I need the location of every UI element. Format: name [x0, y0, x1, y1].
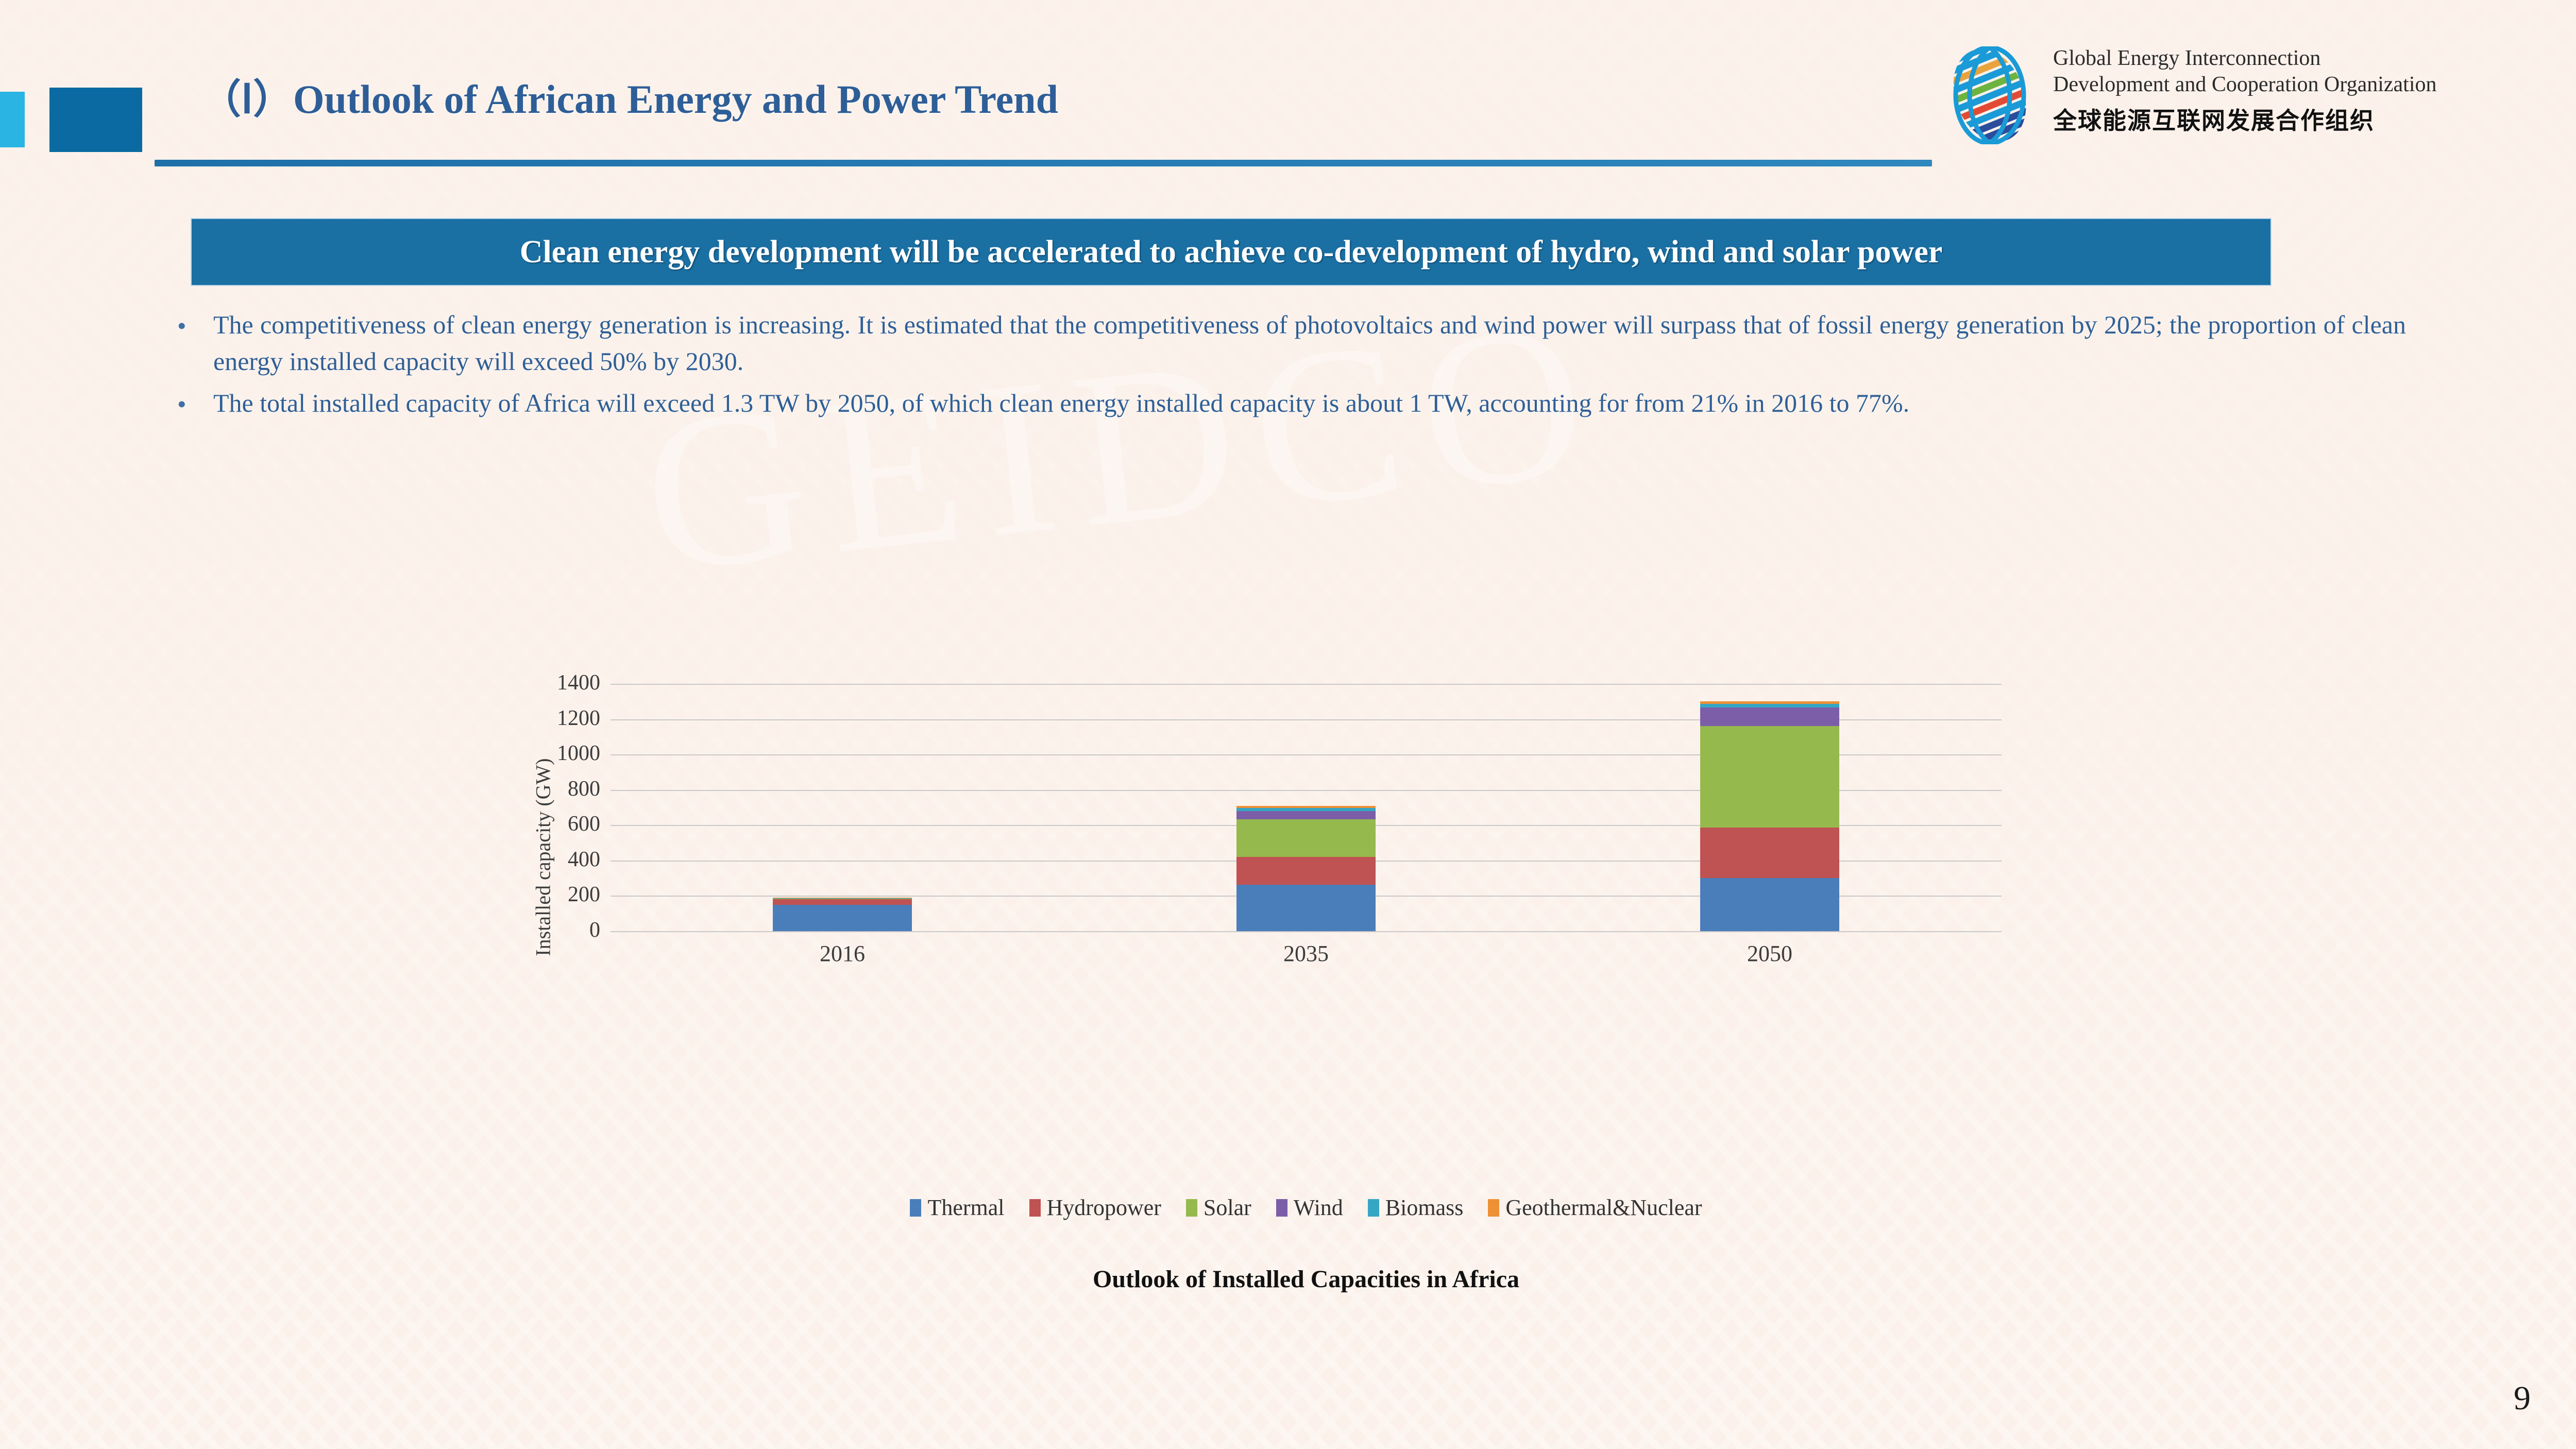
legend-swatch-icon [1186, 1199, 1197, 1217]
legend-label: Geothermal&Nuclear [1505, 1194, 1702, 1221]
chart-x-label-2016: 2016 [765, 940, 920, 967]
chart-bar-segment-hydropower[interactable] [1236, 857, 1376, 885]
logo-english-line1: Global Energy Interconnection [2053, 45, 2437, 72]
page-title: （Ⅰ）Outlook of African Energy and Power T… [201, 67, 1058, 125]
chart-bar-segment-hydropower[interactable] [773, 899, 912, 905]
chart-bar-segment-wind[interactable] [773, 898, 912, 899]
header-divider-rule [155, 160, 1932, 166]
chart-bar-segment-wind[interactable] [1700, 707, 1839, 726]
chart-bar-2035[interactable] [1236, 684, 1376, 931]
chart-y-tick-label: 1000 [446, 741, 600, 766]
chart-y-tick-label: 1200 [446, 706, 600, 731]
list-item: • The total installed capacity of Africa… [170, 385, 2406, 424]
chart-bar-segment-solar[interactable] [1236, 819, 1376, 857]
legend-item-wind[interactable]: Wind [1276, 1194, 1343, 1221]
chart-y-tick-label: 400 [446, 847, 600, 872]
chart-bar-segment-solar[interactable] [773, 899, 912, 899]
chart-bar-segment-biomass[interactable] [1700, 704, 1839, 708]
legend-label: Hydropower [1047, 1194, 1161, 1221]
chart-plot-area: 0200400600800100012001400 [611, 684, 2002, 931]
list-item: • The competitiveness of clean energy ge… [170, 307, 2406, 380]
legend-swatch-icon [1368, 1199, 1379, 1217]
chart-legend: ThermalHydropowerSolarWindBiomassGeother… [611, 1194, 2002, 1221]
chart-x-label-2050: 2050 [1692, 940, 1847, 967]
chart-x-axis-labels: 201620352050 [611, 940, 2002, 976]
chart-bar-segment-thermal[interactable] [1236, 885, 1376, 931]
bullet-text: The total installed capacity of Africa w… [213, 385, 2406, 422]
globe-logo-icon [1942, 46, 2038, 144]
chart-bar-2016[interactable] [773, 684, 912, 931]
legend-label: Thermal [927, 1194, 1004, 1221]
chart-bar-segment-geothermal-nuclear[interactable] [1236, 806, 1376, 808]
chart-y-tick-label: 1400 [446, 670, 600, 695]
legend-swatch-icon [910, 1199, 921, 1217]
organization-logo: Global Energy Interconnection Developmen… [1942, 41, 2550, 149]
chart-bar-segment-solar[interactable] [1700, 726, 1839, 828]
legend-item-thermal[interactable]: Thermal [910, 1194, 1004, 1221]
bullet-marker-icon: • [170, 307, 213, 345]
header-accent-square-small [0, 92, 25, 147]
bullet-text: The competitiveness of clean energy gene… [213, 307, 2406, 380]
chart-bar-segment-geothermal-nuclear[interactable] [773, 898, 912, 898]
bullet-marker-icon: • [170, 385, 213, 424]
legend-label: Wind [1294, 1194, 1343, 1221]
legend-item-hydropower[interactable]: Hydropower [1029, 1194, 1161, 1221]
chart-bar-segment-hydropower[interactable] [1700, 828, 1839, 878]
legend-item-solar[interactable]: Solar [1186, 1194, 1251, 1221]
chart-title: Outlook of Installed Capacities in Afric… [611, 1265, 2002, 1293]
legend-label: Solar [1204, 1194, 1251, 1221]
legend-swatch-icon [1029, 1199, 1041, 1217]
section-banner-text: Clean energy development will be acceler… [520, 234, 1943, 271]
chart-x-label-2035: 2035 [1229, 940, 1383, 967]
header-accent-square-large [49, 88, 142, 152]
legend-label: Biomass [1385, 1194, 1464, 1221]
page-number: 9 [2514, 1379, 2531, 1418]
legend-item-geothermal-nuclear[interactable]: Geothermal&Nuclear [1488, 1194, 1702, 1221]
chart-bar-segment-thermal[interactable] [1700, 878, 1839, 931]
legend-swatch-icon [1276, 1199, 1287, 1217]
chart-bars [611, 684, 2002, 931]
chart-bar-segment-biomass[interactable] [1236, 808, 1376, 811]
logo-english-line2: Development and Cooperation Organization [2053, 72, 2437, 98]
chart-y-tick-label: 200 [446, 882, 600, 907]
logo-chinese-name: 全球能源互联网发展合作组织 [2053, 102, 2437, 136]
slide-header: （Ⅰ）Outlook of African Energy and Power T… [0, 0, 2576, 175]
chart-y-tick-label: 600 [446, 812, 600, 836]
chart-bar-2050[interactable] [1700, 684, 1839, 931]
chart-gridline [611, 931, 2002, 932]
legend-item-biomass[interactable]: Biomass [1368, 1194, 1464, 1221]
legend-swatch-icon [1488, 1199, 1499, 1217]
installed-capacity-chart: Installed capacity (GW) 0200400600800100… [464, 670, 2164, 1340]
chart-bar-segment-thermal[interactable] [773, 905, 912, 931]
chart-y-tick-label: 0 [446, 918, 600, 942]
chart-bar-segment-wind[interactable] [1236, 811, 1376, 819]
chart-bar-segment-geothermal-nuclear[interactable] [1700, 701, 1839, 703]
bullet-list: • The competitiveness of clean energy ge… [170, 307, 2406, 429]
chart-bar-segment-biomass[interactable] [773, 898, 912, 899]
section-banner: Clean energy development will be acceler… [192, 219, 2270, 285]
chart-y-tick-label: 800 [446, 777, 600, 801]
